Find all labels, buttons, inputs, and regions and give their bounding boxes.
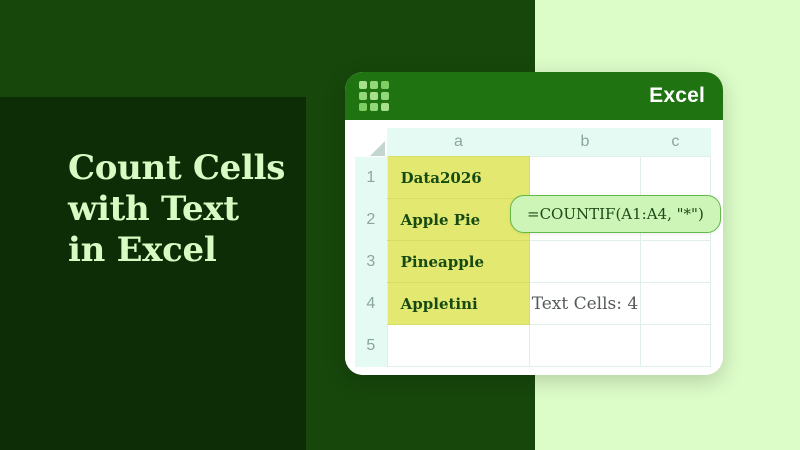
grid-dot <box>359 81 367 89</box>
excel-title-bar: Excel <box>345 72 723 120</box>
cell-b4-result[interactable]: Text Cells: 4 <box>530 283 640 325</box>
cell-b5[interactable] <box>530 325 640 367</box>
grid-dot <box>370 81 378 89</box>
select-all-corner[interactable] <box>355 128 387 157</box>
grid-dot <box>381 92 389 100</box>
screenshot-stage: Count Cells with Text in Excel Excel <box>0 0 800 450</box>
grid-apps-icon[interactable] <box>359 81 389 111</box>
cell-a3[interactable]: Pineapple <box>387 241 530 283</box>
grid-dot <box>359 92 367 100</box>
cell-b3[interactable] <box>530 241 640 283</box>
cell-c3[interactable] <box>640 241 710 283</box>
column-header-a[interactable]: a <box>387 128 530 157</box>
grid-dot <box>370 103 378 111</box>
column-header-b[interactable]: b <box>530 128 640 157</box>
app-title: Excel <box>649 84 705 108</box>
table-row: 1 Data2026 <box>355 157 711 199</box>
spreadsheet-grid: a b c 1 Data2026 2 Apple Pie <box>355 128 711 367</box>
cell-b1[interactable] <box>530 157 640 199</box>
formula-tooltip: =COUNTIF(A1:A4, "*") <box>510 195 721 233</box>
cell-c5[interactable] <box>640 325 710 367</box>
grid-dot <box>359 103 367 111</box>
grid-dot <box>381 81 389 89</box>
table-row: 4 Appletini Text Cells: 4 <box>355 283 711 325</box>
cell-c4[interactable] <box>640 283 710 325</box>
spreadsheet-area: a b c 1 Data2026 2 Apple Pie <box>345 120 723 375</box>
table-row: 5 <box>355 325 711 367</box>
cell-a2[interactable]: Apple Pie <box>387 199 530 241</box>
cell-c1[interactable] <box>640 157 710 199</box>
table-row: 3 Pineapple <box>355 241 711 283</box>
grid-dot <box>381 103 389 111</box>
row-header-2[interactable]: 2 <box>355 199 387 241</box>
cell-a4[interactable]: Appletini <box>387 283 530 325</box>
page-title: Count Cells with Text in Excel <box>68 148 308 271</box>
column-header-row: a b c <box>355 128 711 157</box>
row-header-1[interactable]: 1 <box>355 157 387 199</box>
excel-window: Excel a b c <box>345 72 723 375</box>
cell-a1[interactable]: Data2026 <box>387 157 530 199</box>
row-header-3[interactable]: 3 <box>355 241 387 283</box>
row-header-5[interactable]: 5 <box>355 325 387 367</box>
row-header-4[interactable]: 4 <box>355 283 387 325</box>
corner-triangle-icon <box>370 141 385 156</box>
column-header-c[interactable]: c <box>640 128 710 157</box>
grid-dot <box>370 92 378 100</box>
cell-a5[interactable] <box>387 325 530 367</box>
